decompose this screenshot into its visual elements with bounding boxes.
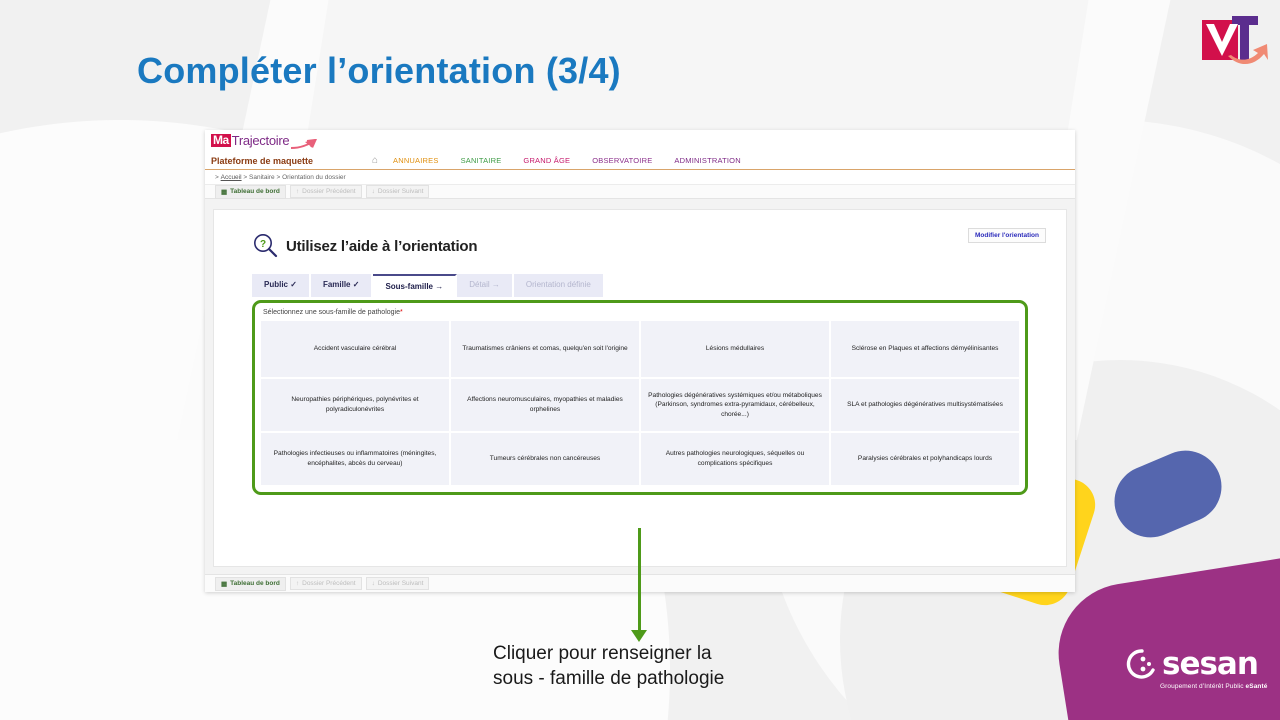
option-cell[interactable]: Lésions médullaires xyxy=(641,321,829,377)
callout-caption: Cliquer pour renseigner la sous - famill… xyxy=(493,642,724,691)
app-navbar[interactable]: Plateforme de maquette ⌂ ANNUAIRES SANIT… xyxy=(205,152,1075,170)
nav-item-annuaires[interactable]: ANNUAIRES xyxy=(393,156,439,165)
nav-item-administration[interactable]: ADMINISTRATION xyxy=(674,156,740,165)
application-screenshot: Ma Trajectoire Plateforme de maquette ⌂ … xyxy=(205,130,1075,592)
option-cell[interactable]: Pathologies dégénératives systémiques et… xyxy=(641,379,829,431)
sesan-mark-icon xyxy=(1126,648,1158,680)
callout-caption-line2: sous - famille de pathologie xyxy=(493,667,724,692)
option-cell[interactable]: SLA et pathologies dégénératives multisy… xyxy=(831,379,1019,431)
option-cell[interactable]: Tumeurs cérébrales non cancéreuses xyxy=(451,433,639,485)
grid-icon: ▦ xyxy=(221,580,227,588)
breadcrumb-item-accueil[interactable]: Accueil xyxy=(221,174,242,181)
previous-folder-button[interactable]: ↑ Dossier Précédent xyxy=(290,185,362,198)
orientation-tabs: Public ✓ Famille ✓ Sous-famille → Détail… xyxy=(252,274,1046,297)
top-toolbar: ▦ Tableau de bord ↑ Dossier Précédent ↓ … xyxy=(205,184,1075,199)
breadcrumb-prefix: > xyxy=(215,174,219,181)
via-trajectoire-logo xyxy=(1198,12,1272,74)
breadcrumb-item-sanitaire[interactable]: Sanitaire xyxy=(249,174,275,181)
sub-family-option-grid: Accident vasculaire cérébral Traumatisme… xyxy=(261,321,1019,485)
home-icon[interactable]: ⌂ xyxy=(357,155,393,166)
page-title: Compléter l’orientation (3/4) xyxy=(137,50,621,92)
nav-item-observatoire[interactable]: OBSERVATOIRE xyxy=(592,156,652,165)
option-cell[interactable]: Accident vasculaire cérébral xyxy=(261,321,449,377)
grid-icon: ▦ xyxy=(221,188,227,196)
required-marker: * xyxy=(400,309,403,316)
svg-text:?: ? xyxy=(260,239,266,250)
nav-item-sanitaire[interactable]: SANITAIRE xyxy=(461,156,502,165)
sesan-logo: sesan Groupement d’Intérêt Public eSanté xyxy=(1126,648,1266,690)
platform-label: Plateforme de maquette xyxy=(211,156,357,166)
sesan-tagline-bold: eSanté xyxy=(1246,683,1268,690)
option-cell[interactable]: Sclérose en Plaques et affections démyél… xyxy=(831,321,1019,377)
app-logo-trajectoire: Trajectoire xyxy=(232,134,290,147)
arrow-down-icon: ↓ xyxy=(372,188,375,195)
next-folder-label: Dossier Suivant xyxy=(378,188,424,195)
callout-arrow-head-icon xyxy=(631,630,647,642)
tab-public[interactable]: Public ✓ xyxy=(252,274,311,297)
tab-sous-famille[interactable]: Sous-famille → xyxy=(373,274,457,297)
option-cell[interactable]: Traumatismes crâniens et comas, quelqu'e… xyxy=(451,321,639,377)
orientation-card: Modifier l'orientation ? Utilisez l’aide… xyxy=(213,209,1067,567)
arrow-down-icon: ↓ xyxy=(372,580,375,587)
dashboard-button-bottom-label: Tableau de bord xyxy=(230,580,280,587)
option-cell[interactable]: Autres pathologies neurologiques, séquel… xyxy=(641,433,829,485)
highlighted-selection-area: Sélectionnez une sous-famille de patholo… xyxy=(252,300,1028,495)
next-folder-bottom-label: Dossier Suivant xyxy=(378,580,424,587)
sesan-wordmark: sesan xyxy=(1162,649,1258,680)
dashboard-button-bottom[interactable]: ▦ Tableau de bord xyxy=(215,577,286,591)
arrow-up-icon: ↑ xyxy=(296,580,299,587)
app-logo: Ma Trajectoire xyxy=(211,134,1075,151)
tab-famille[interactable]: Famille ✓ xyxy=(311,274,374,297)
callout-arrow-line xyxy=(638,528,641,634)
panel-title: Utilisez l’aide à l’orientation xyxy=(286,238,477,255)
option-cell[interactable]: Pathologies infectieuses ou inflammatoir… xyxy=(261,433,449,485)
magnifier-question-icon: ? xyxy=(252,232,278,260)
previous-folder-label: Dossier Précédent xyxy=(302,188,355,195)
breadcrumb-item-orientation: Orientation du dossier xyxy=(282,174,346,181)
option-cell[interactable]: Paralysies cérébrales et polyhandicaps l… xyxy=(831,433,1019,485)
sesan-tagline-prefix: Groupement d’Intérêt Public xyxy=(1160,683,1246,690)
field-label: Sélectionnez une sous-famille de patholo… xyxy=(263,309,1019,316)
app-brand-row: Ma Trajectoire xyxy=(205,130,1075,152)
option-cell[interactable]: Affections neuromusculaires, myopathies … xyxy=(451,379,639,431)
previous-folder-bottom-label: Dossier Précédent xyxy=(302,580,355,587)
app-logo-ma: Ma xyxy=(211,134,231,147)
field-label-text: Sélectionnez une sous-famille de patholo… xyxy=(263,309,400,316)
dashboard-button-label: Tableau de bord xyxy=(230,188,280,195)
previous-folder-button-bottom[interactable]: ↑ Dossier Précédent xyxy=(290,577,362,590)
next-folder-button-bottom[interactable]: ↓ Dossier Suivant xyxy=(366,577,430,590)
breadcrumb-sep-2: > xyxy=(276,174,280,181)
modify-orientation-button[interactable]: Modifier l'orientation xyxy=(968,228,1046,243)
next-folder-button[interactable]: ↓ Dossier Suivant xyxy=(366,185,430,198)
logo-arrow-icon xyxy=(291,139,317,151)
sesan-tagline: Groupement d’Intérêt Public eSanté xyxy=(1160,683,1266,690)
option-cell[interactable]: Neuropathies périphériques, polynévrites… xyxy=(261,379,449,431)
callout-caption-line1: Cliquer pour renseigner la xyxy=(493,642,724,667)
breadcrumb: > Accueil > Sanitaire > Orientation du d… xyxy=(205,170,1075,184)
dashboard-button[interactable]: ▦ Tableau de bord xyxy=(215,185,286,199)
tab-orientation-definie: Orientation définie xyxy=(514,274,605,297)
arrow-up-icon: ↑ xyxy=(296,188,299,195)
card-header: ? Utilisez l’aide à l’orientation xyxy=(252,232,1046,260)
tab-detail: Détail → xyxy=(457,274,514,297)
nav-item-grand-age[interactable]: GRAND ÂGE xyxy=(523,156,570,165)
page-body: Modifier l'orientation ? Utilisez l’aide… xyxy=(205,199,1075,574)
breadcrumb-sep-1: > xyxy=(243,174,247,181)
